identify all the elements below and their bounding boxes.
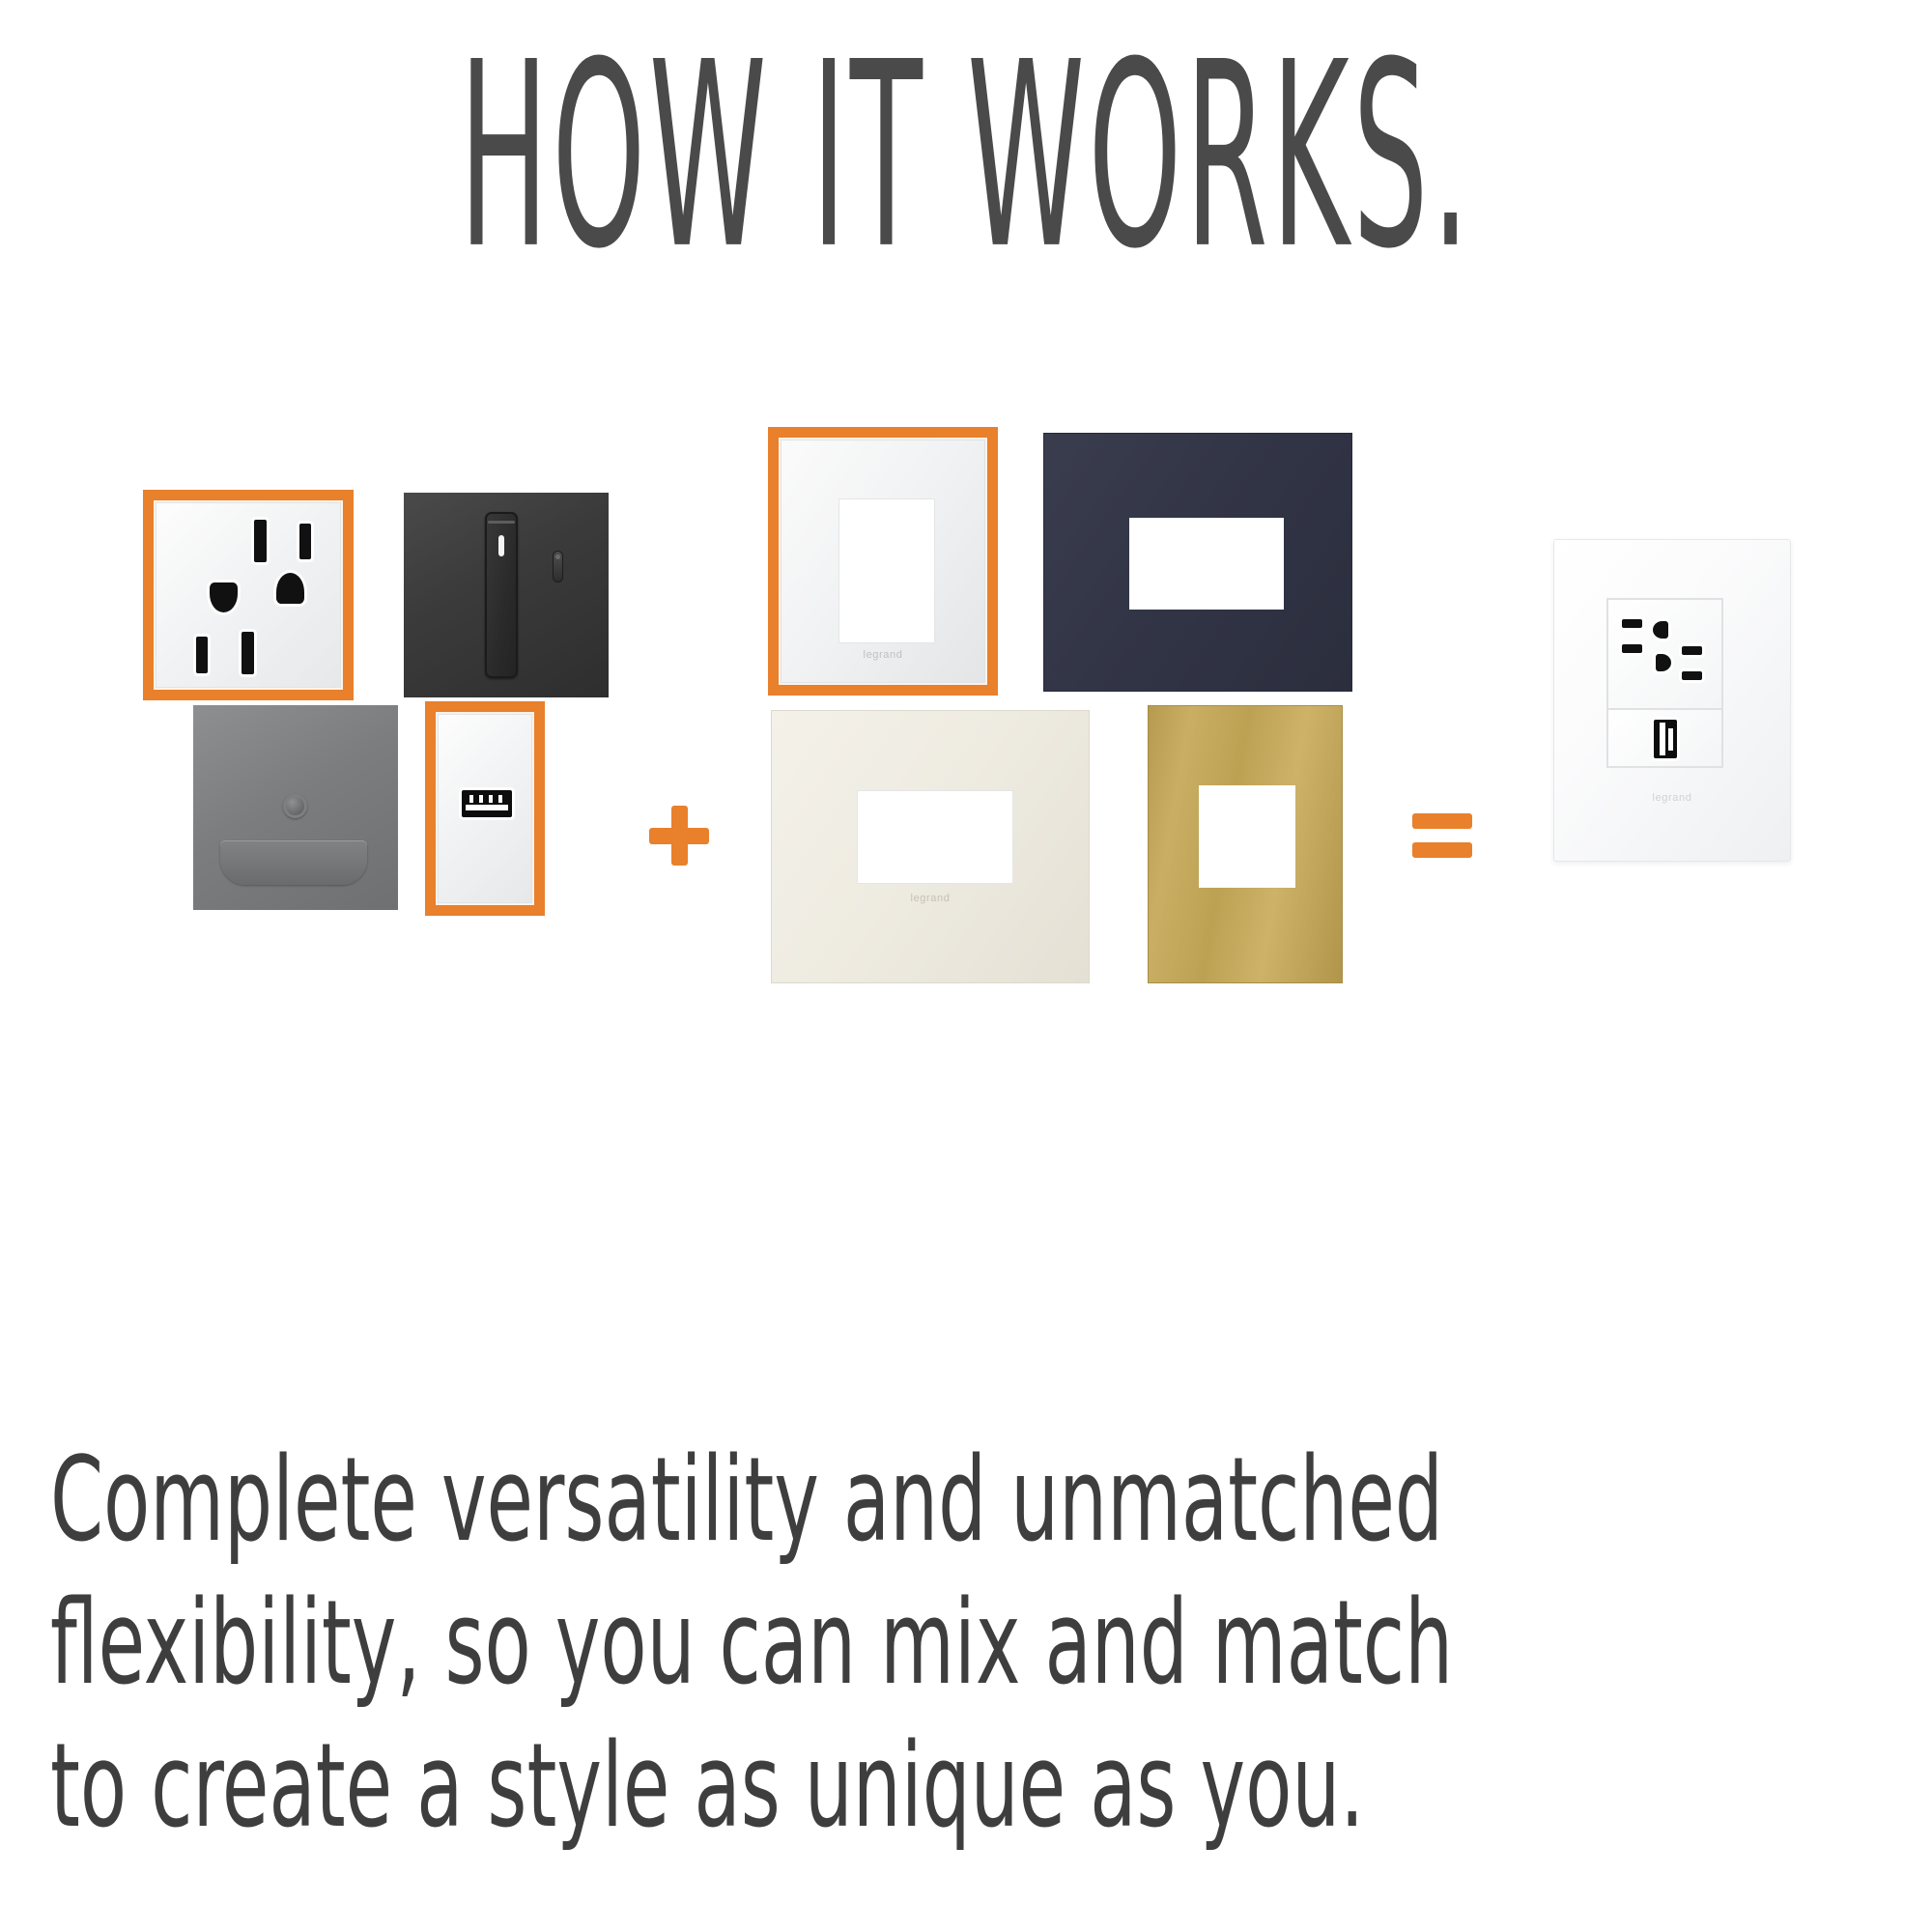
usb-charger-face	[438, 714, 532, 903]
product-wall-plate-cream[interactable]: legrand	[771, 710, 1090, 983]
plate-cutout	[1199, 785, 1295, 888]
outlet-slot	[1682, 671, 1702, 680]
product-usb-charger-white[interactable]	[425, 701, 545, 916]
duplex-outlet-face	[156, 502, 341, 688]
outlet-slot	[254, 520, 267, 562]
assembled-usb-module	[1608, 710, 1721, 766]
plate-cutout	[857, 790, 1013, 884]
outlet-slot	[1682, 646, 1702, 655]
product-occupancy-sensor-magnesium[interactable]	[193, 705, 398, 910]
caption-line-2: flexibility, so you can mix and match	[50, 1573, 1390, 1716]
wall-plate-navy-face	[1043, 433, 1352, 692]
caption-block: Complete versatility and unmatched flexi…	[50, 1430, 1390, 1859]
usb-port-icon	[462, 790, 512, 817]
product-wall-plate-navy[interactable]	[1043, 433, 1352, 692]
outlet-slot	[1622, 644, 1642, 653]
wall-plate-cream-face: legrand	[771, 710, 1090, 983]
plus-operator	[649, 806, 709, 866]
product-duplex-outlet-white[interactable]	[143, 490, 354, 700]
product-dimmer-graphite[interactable]	[404, 493, 609, 697]
outlet-ground	[1656, 654, 1671, 671]
plate-cutout	[1129, 518, 1284, 610]
plate-cutout	[838, 498, 935, 643]
outlet-slot	[299, 524, 311, 559]
sensor-rocker-button[interactable]	[220, 840, 367, 885]
dimmer-level-slider[interactable]	[553, 551, 563, 582]
assembled-outlet-module	[1608, 600, 1721, 709]
product-wall-plate-white[interactable]: legrand	[768, 427, 998, 696]
how-it-works-diagram: legrand legrand	[0, 415, 1932, 1256]
dimmer-face	[404, 493, 609, 697]
outlet-ground	[276, 573, 304, 604]
brand-legrand: legrand	[1553, 792, 1791, 804]
brand-legrand: legrand	[772, 893, 1089, 904]
page-title: HOW IT WORKS.	[386, 21, 1546, 290]
dimmer-paddle[interactable]	[485, 512, 518, 678]
product-wall-plate-brass[interactable]	[1148, 705, 1343, 983]
outlet-ground	[1653, 621, 1668, 639]
motion-sensor-icon	[283, 794, 307, 818]
product-assembled-outlet-usb-white[interactable]: legrand	[1553, 539, 1791, 862]
equals-operator	[1412, 813, 1472, 860]
sensor-face	[193, 705, 398, 910]
usb-port-icon	[1654, 720, 1677, 758]
wall-plate-brass-face	[1148, 705, 1343, 983]
caption-line-3: to create a style as unique as you.	[50, 1716, 1390, 1859]
outlet-ground	[210, 582, 238, 612]
brand-legrand: legrand	[781, 649, 984, 661]
outlet-slot	[196, 637, 208, 673]
wall-plate-white-face: legrand	[781, 440, 985, 683]
outlet-slot	[1622, 619, 1642, 628]
caption-line-1: Complete versatility and unmatched	[50, 1430, 1390, 1573]
outlet-slot	[241, 632, 254, 674]
